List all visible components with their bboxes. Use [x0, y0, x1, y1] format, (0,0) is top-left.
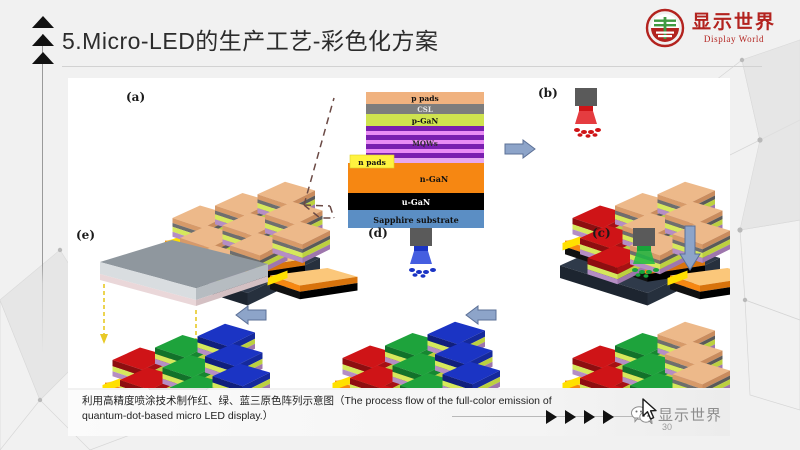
red-spray-nozzle-icon: [574, 88, 601, 138]
page-number: 30: [662, 422, 672, 432]
layer-label-pgan: p-GaN: [412, 117, 439, 126]
play-triangle-icon: [546, 410, 557, 424]
up-triangle-icon: [32, 34, 54, 46]
brand-name-en: Display World: [704, 35, 764, 44]
layer-label-csl: CSL: [417, 105, 433, 114]
play-triangle-icon: [565, 410, 576, 424]
play-triangle-icon: [584, 410, 595, 424]
arrow-left-c-to-d: [466, 306, 496, 324]
page-title-text: 5.Micro-LED的生产工艺-彩色化方案: [62, 26, 582, 56]
layer-label-p-pads: p pads: [411, 94, 438, 103]
brand-text: 显示世界 Display World: [692, 13, 776, 44]
caption-arrow-group: [546, 410, 614, 424]
panel-label-d: (d): [368, 226, 388, 240]
down-arrow-icon: [100, 334, 108, 344]
caption-line-1: 利用高精度喷涂技术制作红、绿、蓝三原色阵列示意图（The process flo…: [82, 394, 722, 409]
up-triangle-icon: [32, 52, 54, 64]
layer-label-n-pads: n pads: [358, 158, 386, 167]
layer-label-ugan: u-GaN: [402, 197, 430, 207]
figure-panel: p pads CSL p-GaN MQWs n-GaN u-GaN Sapphi…: [68, 78, 730, 388]
panel-label-b: (b): [538, 86, 558, 100]
panel-label-c: (c): [592, 226, 611, 240]
panel-label-e: (e): [76, 228, 95, 242]
layer-label-mqws: MQWs: [412, 139, 438, 148]
title-divider: [62, 66, 762, 67]
arrow-right-a-to-b: [505, 140, 535, 158]
panel-b-illustration: [560, 88, 730, 306]
play-triangle-icon: [603, 410, 614, 424]
mouse-cursor-icon: [642, 398, 660, 422]
brand-logo: 显示世界 Display World: [645, 8, 776, 48]
layer-label-sapphire: Sapphire substrate: [373, 215, 458, 225]
layer-label-ngan: n-GaN: [420, 174, 448, 184]
panel-label-a: (a): [126, 90, 145, 104]
process-flow-figure: p pads CSL p-GaN MQWs n-GaN u-GaN Sapphi…: [68, 78, 730, 388]
layer-stack-diagram: p pads CSL p-GaN MQWs n-GaN u-GaN Sapphi…: [348, 92, 484, 228]
panel-d-illustration: [330, 228, 528, 388]
up-triangle-icon: [32, 16, 54, 28]
page-title: 5.Micro-LED的生产工艺-彩色化方案: [62, 26, 582, 56]
brand-name-cn: 显示世界: [692, 13, 776, 32]
slide-root: 5.Micro-LED的生产工艺-彩色化方案 显示世界 Display Worl…: [0, 0, 800, 450]
circular-seal-logo-icon: [645, 8, 685, 48]
rail-stem: [42, 34, 43, 354]
left-marker-rail: [30, 8, 56, 368]
figure-caption: 利用高精度喷涂技术制作红、绿、蓝三原色阵列示意图（The process flo…: [68, 390, 730, 436]
blue-spray-nozzle-icon: [409, 228, 436, 278]
arrow-left-d-to-e: [236, 306, 266, 324]
